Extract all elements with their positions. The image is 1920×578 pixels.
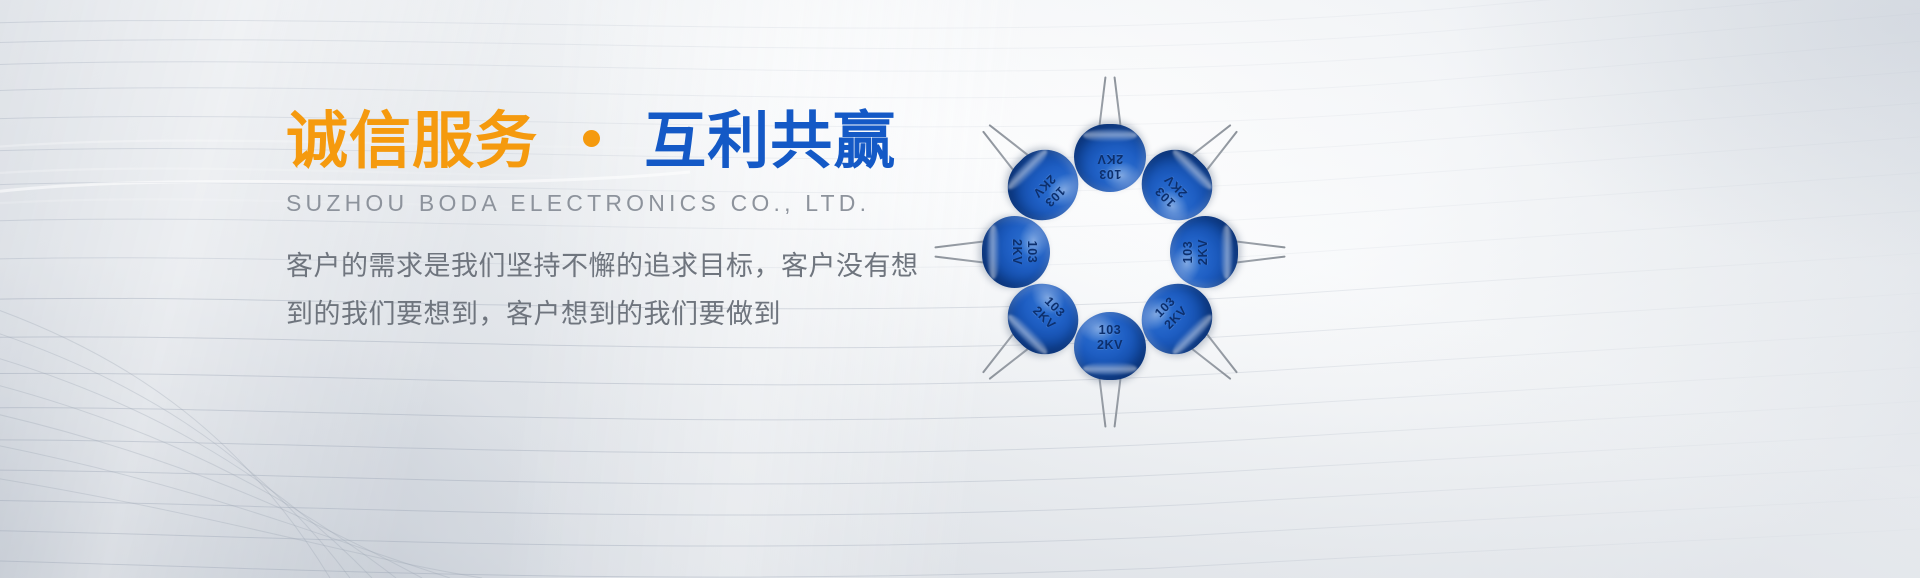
headline-blue-text: 互利共赢 (644, 104, 896, 177)
capacitor-gloss-highlight (1083, 129, 1136, 142)
capacitor-marking-voltage: 2KV (1074, 151, 1146, 166)
capacitor-gloss-highlight (1220, 225, 1233, 278)
ceramic-disc-capacitor: 1032KV (1127, 269, 1260, 402)
banner-description: 客户的需求是我们坚持不懈的追求目标，客户没有想 到的我们要想到，客户想到的我们要… (286, 243, 1006, 339)
capacitor-marking-voltage: 2KV (1074, 338, 1146, 353)
company-name-english: SUZHOU BODA ELECTRONICS CO., LTD. (286, 190, 1006, 217)
page-title: 诚信服务 互利共赢 (286, 108, 1006, 175)
banner-copy: 诚信服务 互利共赢 SUZHOU BODA ELECTRONICS CO., L… (286, 108, 1006, 339)
headline-separator-dot (583, 130, 600, 147)
capacitor-marking-voltage: 2KV (1009, 216, 1024, 288)
capacitor-marking-voltage: 2KV (1196, 216, 1211, 288)
capacitor-gloss-highlight (1083, 362, 1136, 375)
headline-orange-text: 诚信服务 (286, 104, 538, 177)
capacitor-gloss-highlight (987, 225, 1000, 278)
ceramic-disc-capacitor: 1032KV (934, 216, 1050, 288)
ceramic-disc-capacitor: 1032KV (1074, 312, 1146, 428)
ceramic-disc-capacitor: 1032KV (1170, 216, 1286, 288)
description-line-1: 客户的需求是我们坚持不懈的追求目标，客户没有想 (286, 243, 1006, 291)
hero-banner: 诚信服务 互利共赢 SUZHOU BODA ELECTRONICS CO., L… (0, 0, 1920, 578)
description-line-2: 到的我们要想到，客户想到的我们要做到 (286, 291, 1006, 339)
